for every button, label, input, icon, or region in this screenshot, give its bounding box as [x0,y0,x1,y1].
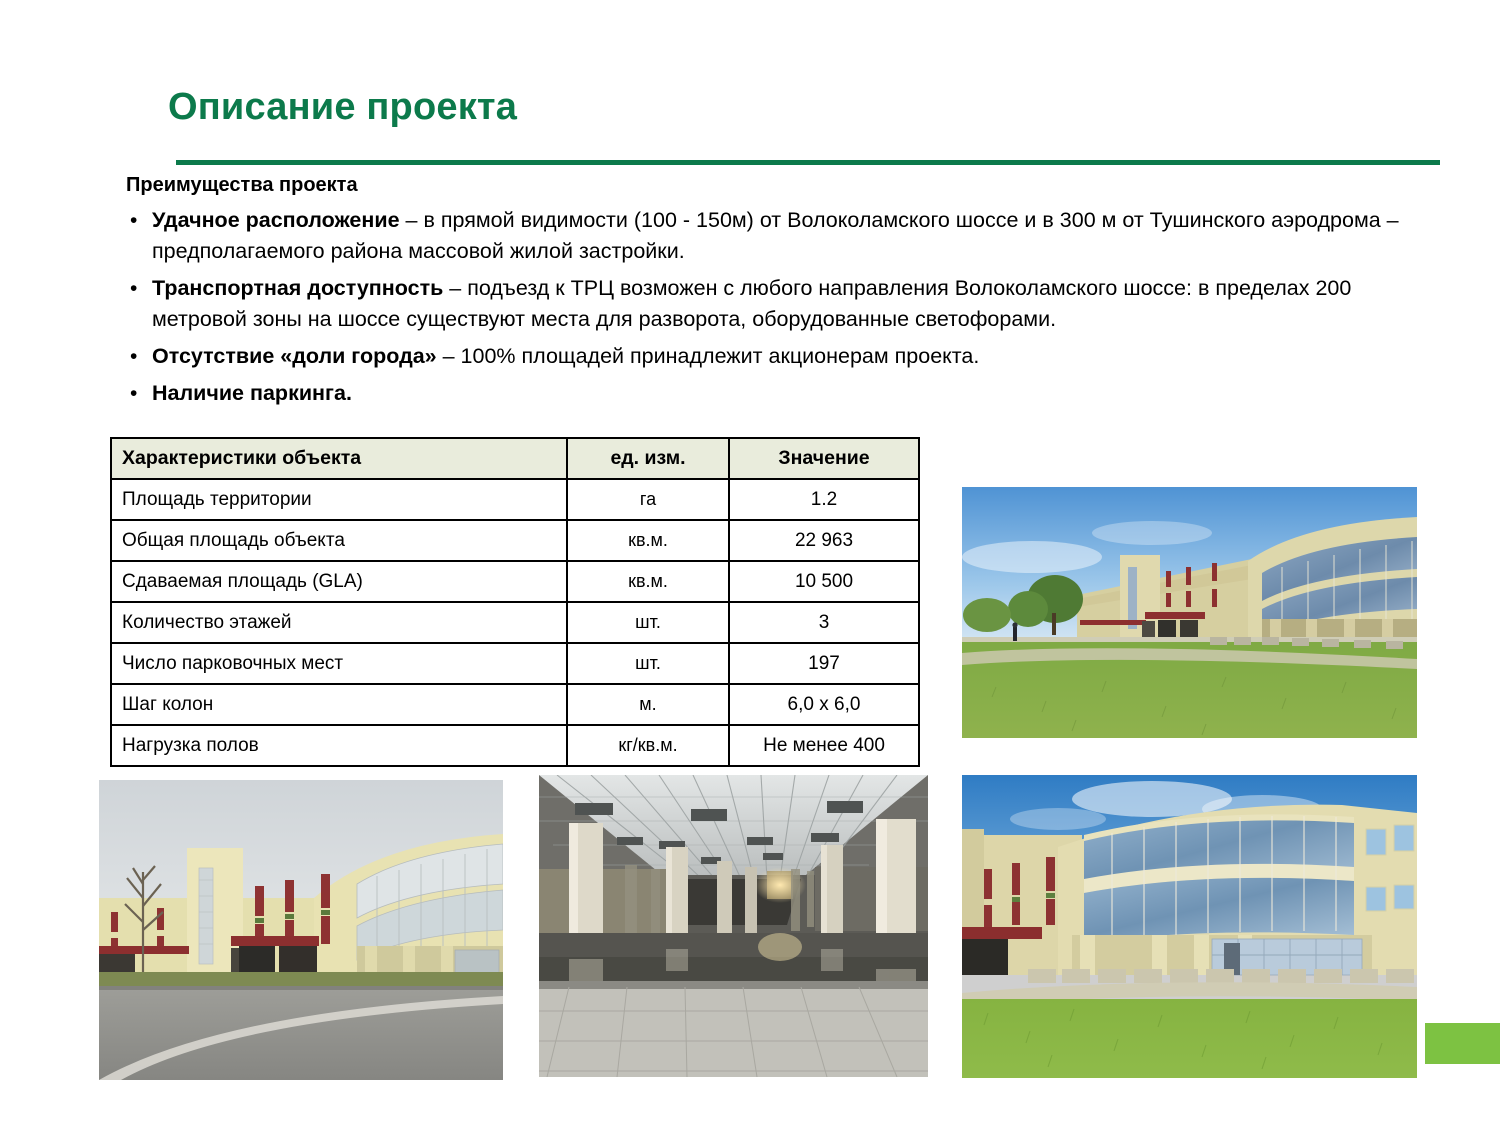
cell-characteristic: Сдаваемая площадь (GLA) [111,561,567,602]
list-item: • Транспортная доступность – подъезд к Т… [126,273,1436,335]
photo-exterior-main-entrance-graphic [962,775,1417,1078]
list-item-text: Транспортная доступность – подъезд к ТРЦ… [152,273,1436,335]
photo-interior-hall [539,775,928,1077]
subheading-advantages: Преимущества проекта [126,172,358,198]
cell-characteristic: Общая площадь объекта [111,520,567,561]
photo-exterior-sunny-angle-graphic [962,487,1417,738]
list-item-text: Отсутствие «доли города» – 100% площадей… [152,341,1436,372]
cell-characteristic: Площадь территории [111,479,567,520]
table-row: Количество этажей шт. 3 [111,602,919,643]
cell-unit: га [567,479,729,520]
object-characteristics-table: Характеристики объекта ед. изм. Значение… [110,437,920,767]
cell-value: 197 [729,643,919,684]
cell-characteristic: Нагрузка полов [111,725,567,766]
cell-value: 6,0 х 6,0 [729,684,919,725]
list-item: • Наличие паркинга. [126,378,1436,409]
table-row: Общая площадь объекта кв.м. 22 963 [111,520,919,561]
photo-exterior-main-entrance [962,775,1417,1078]
table-row: Число парковочных мест шт. 197 [111,643,919,684]
photo-exterior-overcast-graphic [99,780,503,1080]
cell-value: Не менее 400 [729,725,919,766]
photo-exterior-sunny-angle [962,487,1417,738]
accent-bar-green [1425,1023,1500,1064]
table-header-row: Характеристики объекта ед. изм. Значение [111,438,919,479]
bullet-marker-icon: • [126,273,152,304]
cell-value: 22 963 [729,520,919,561]
cell-value: 3 [729,602,919,643]
table-row: Нагрузка полов кг/кв.м. Не менее 400 [111,725,919,766]
list-item-lead: Наличие паркинга. [152,381,352,405]
list-item-text: Наличие паркинга. [152,378,1436,409]
photo-exterior-overcast [99,780,503,1080]
column-header-characteristic: Характеристики объекта [111,438,567,479]
cell-unit: кв.м. [567,520,729,561]
cell-characteristic: Количество этажей [111,602,567,643]
cell-value: 1.2 [729,479,919,520]
list-item-text: Удачное расположение – в прямой видимост… [152,205,1436,267]
list-item-lead: Отсутствие «доли города» [152,344,437,368]
title-underline-rule [176,160,1440,165]
column-header-value: Значение [729,438,919,479]
bullet-marker-icon: • [126,341,152,372]
cell-unit: кг/кв.м. [567,725,729,766]
cell-characteristic: Число парковочных мест [111,643,567,684]
cell-unit: м. [567,684,729,725]
table-row: Шаг колон м. 6,0 х 6,0 [111,684,919,725]
page-title: Описание проекта [168,86,517,129]
cell-unit: шт. [567,643,729,684]
cell-value: 10 500 [729,561,919,602]
slide-canvas: Описание проекта Преимущества проекта • … [0,0,1500,1125]
column-header-unit: ед. изм. [567,438,729,479]
cell-characteristic: Шаг колон [111,684,567,725]
cell-unit: шт. [567,602,729,643]
list-item: • Удачное расположение – в прямой видимо… [126,205,1436,267]
advantages-bullet-list: • Удачное расположение – в прямой видимо… [126,205,1436,415]
list-item-lead: Удачное расположение [152,208,400,232]
table-row: Сдаваемая площадь (GLA) кв.м. 10 500 [111,561,919,602]
cell-unit: кв.м. [567,561,729,602]
table-row: Площадь территории га 1.2 [111,479,919,520]
list-item: • Отсутствие «доли города» – 100% площад… [126,341,1436,372]
list-item-rest: – 100% площадей принадлежит акционерам п… [437,344,980,368]
bullet-marker-icon: • [126,205,152,236]
bullet-marker-icon: • [126,378,152,409]
photo-interior-hall-graphic [539,775,928,1077]
list-item-lead: Транспортная доступность [152,276,443,300]
